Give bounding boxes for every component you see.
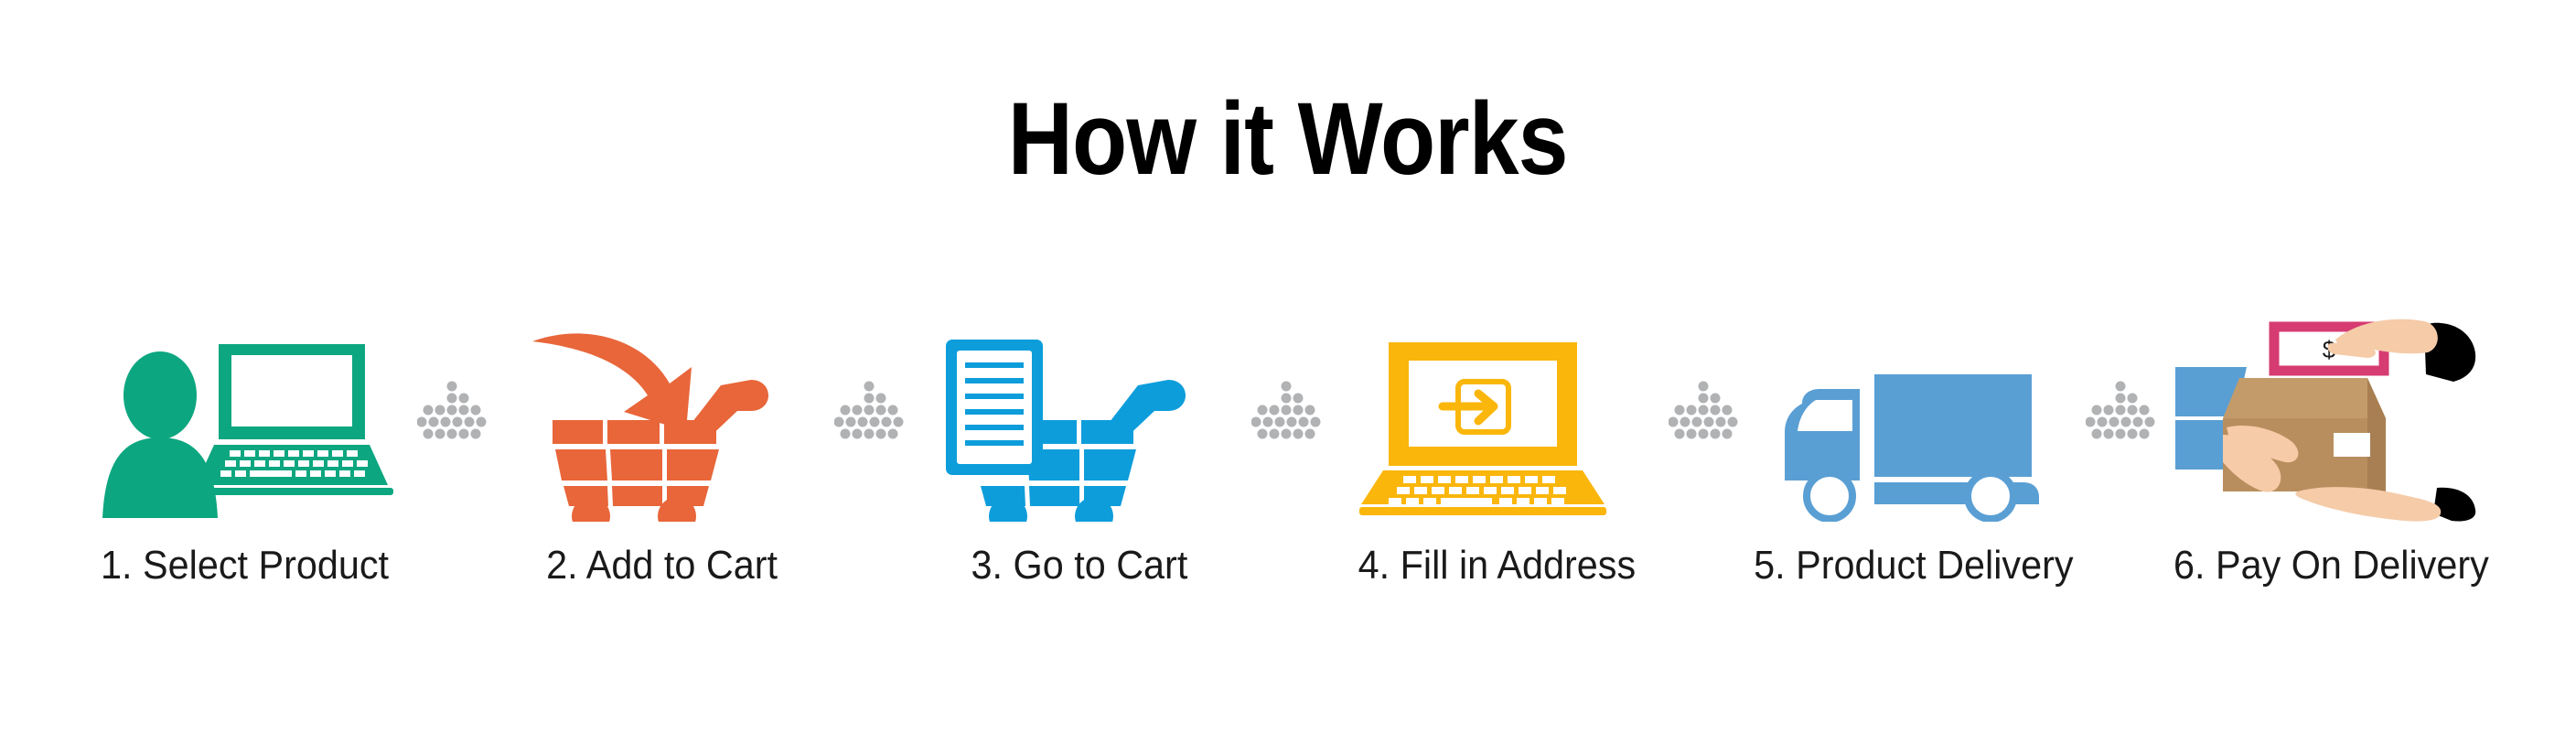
step-3-icon-box [915, 302, 1244, 522]
delivery-truck-icon [1772, 352, 2055, 522]
dotted-arrow-right-icon [417, 380, 490, 444]
step-2-add-to-cart[interactable]: 2. Add to Cart [498, 302, 827, 586]
dotted-arrow-right-icon [1669, 380, 1742, 444]
step-2-icon-box [498, 302, 827, 522]
step-4-icon-box [1332, 302, 1661, 522]
page-title: How it Works [1008, 88, 1568, 190]
separator-4 [1661, 302, 1749, 522]
step-6-icon-box: $ [2166, 302, 2495, 522]
page-title-wrap: How it Works [0, 88, 2576, 190]
dotted-arrow-right-icon [1251, 380, 1325, 444]
separator-3 [1244, 302, 1332, 522]
step-1-icon-box [80, 302, 410, 522]
laptop-login-icon [1359, 339, 1634, 522]
document-cart-icon [942, 325, 1217, 522]
step-5-label: 5. Product Delivery [1754, 545, 2073, 586]
steps-row: 1. Select Product [0, 302, 2576, 586]
step-3-label: 3. Go to Cart [971, 545, 1188, 586]
person-laptop-icon [94, 339, 396, 522]
right-hand-receiving [2295, 487, 2475, 521]
step-6-pay-on-delivery[interactable]: $ [2166, 302, 2495, 586]
separator-2 [827, 302, 915, 522]
step-2-label: 2. Add to Cart [547, 545, 778, 586]
step-1-select-product[interactable]: 1. Select Product [80, 302, 410, 586]
step-3-go-to-cart[interactable]: 3. Go to Cart [915, 302, 1244, 586]
separator-5 [2078, 302, 2166, 522]
hands-box-money-icon: $ [2175, 316, 2486, 522]
dotted-arrow-right-icon [2086, 380, 2159, 444]
step-6-label: 6. Pay On Delivery [2173, 545, 2489, 586]
step-4-fill-in-address[interactable]: 4. Fill in Address [1332, 302, 1661, 586]
step-5-icon-box [1749, 302, 2078, 522]
step-5-product-delivery[interactable]: 5. Product Delivery [1749, 302, 2078, 586]
separator-1 [410, 302, 498, 522]
how-it-works-infographic: How it Works [0, 0, 2576, 745]
dotted-arrow-right-icon [834, 380, 907, 444]
step-1-label: 1. Select Product [102, 545, 390, 586]
step-4-label: 4. Fill in Address [1358, 545, 1635, 586]
cart-arrow-icon [525, 325, 800, 522]
